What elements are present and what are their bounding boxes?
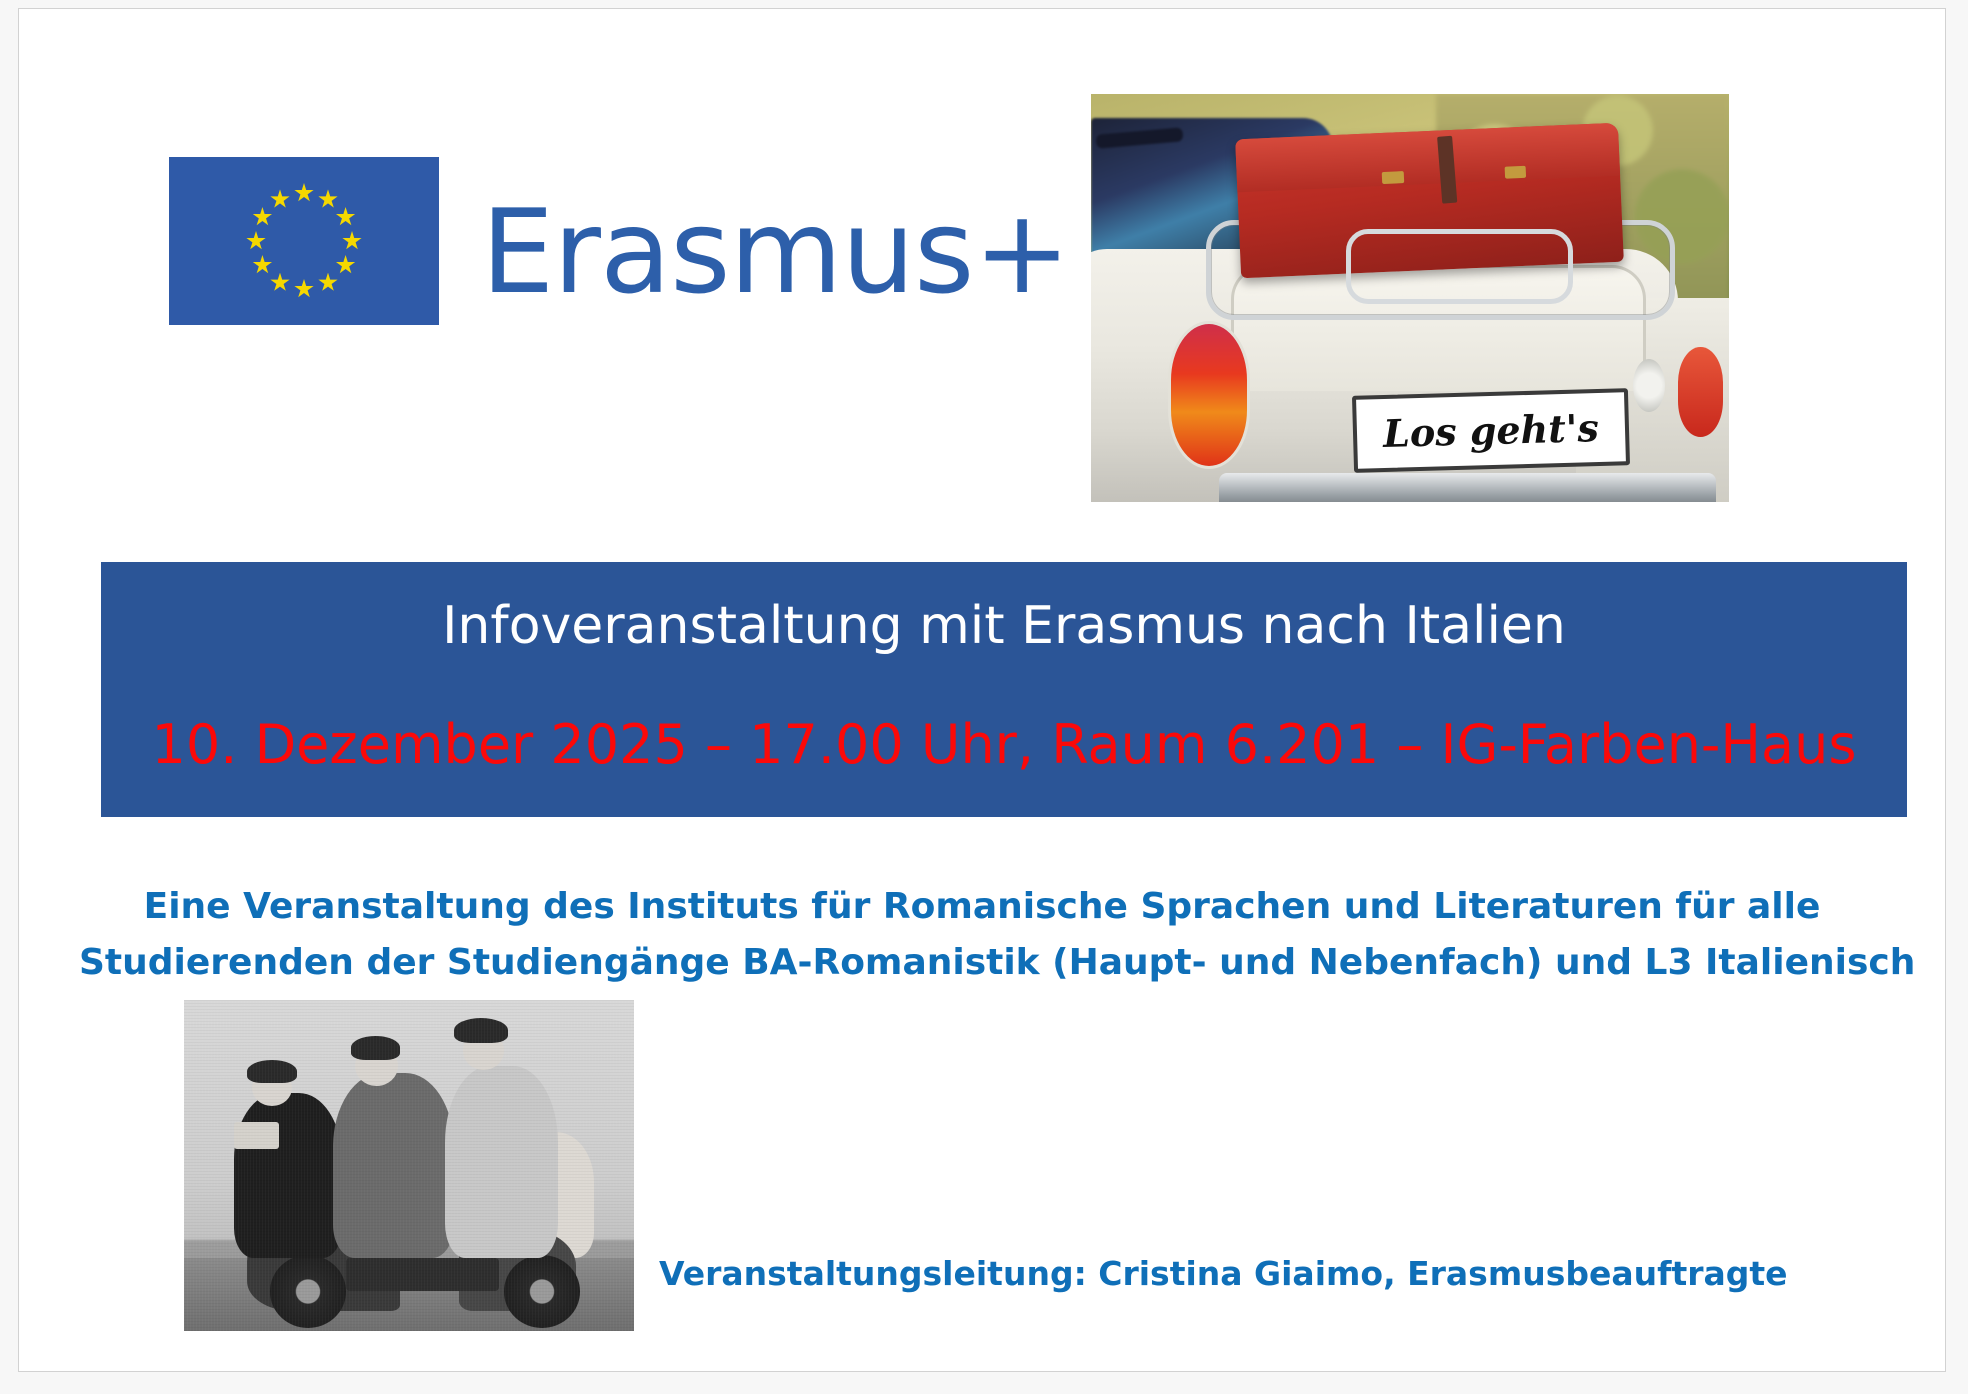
eu-star-icon	[270, 273, 290, 293]
eu-star-icon	[270, 189, 290, 209]
chrome-bumper	[1219, 473, 1717, 502]
luggage-rack-inner	[1346, 229, 1573, 304]
eu-star-icon	[318, 189, 338, 209]
photo-film-grain	[184, 1000, 634, 1331]
eu-star-icon	[336, 255, 356, 275]
car-luggage-photo: Los geht's	[1091, 94, 1729, 502]
eu-stars-group	[248, 185, 360, 297]
tail-light-right	[1678, 347, 1723, 437]
body-line-1: Eine Veranstaltung des Instituts für Rom…	[79, 879, 1885, 935]
poster-page: Erasmus+ Los geht's Infoveranstaltung mi…	[18, 8, 1946, 1372]
banner-title: Infoveranstaltung mit Erasmus nach Itali…	[101, 598, 1907, 655]
organizer-line: Veranstaltungsleitung: Cristina Giaimo, …	[659, 1254, 1788, 1293]
eu-star-icon	[246, 231, 266, 251]
suitcase-latch-icon	[1382, 171, 1404, 184]
eu-flag-icon	[169, 157, 439, 325]
eu-star-icon	[318, 273, 338, 293]
eu-star-icon	[294, 279, 314, 299]
body-text-block: Eine Veranstaltung des Instituts für Rom…	[79, 879, 1885, 991]
tail-light	[1168, 321, 1251, 470]
title-banner: Infoveranstaltung mit Erasmus nach Itali…	[101, 562, 1907, 817]
eu-star-icon	[336, 207, 356, 227]
banner-date-line: 10. Dezember 2025 – 17.00 Uhr, Raum 6.20…	[101, 715, 1907, 774]
eu-star-icon	[342, 231, 362, 251]
suitcase-latch-icon	[1504, 165, 1526, 178]
vespa-scooter-photo	[184, 1000, 634, 1331]
background-car-rack	[1095, 127, 1183, 148]
license-plate-text: Los geht's	[1382, 405, 1599, 456]
erasmus-plus-wordmark: Erasmus+	[481, 195, 1070, 311]
eu-star-icon	[252, 207, 272, 227]
body-line-2: Studierenden der Studiengänge BA-Romanis…	[79, 935, 1885, 991]
eu-star-icon	[252, 255, 272, 275]
eu-star-icon	[294, 183, 314, 203]
license-plate: Los geht's	[1352, 388, 1630, 473]
